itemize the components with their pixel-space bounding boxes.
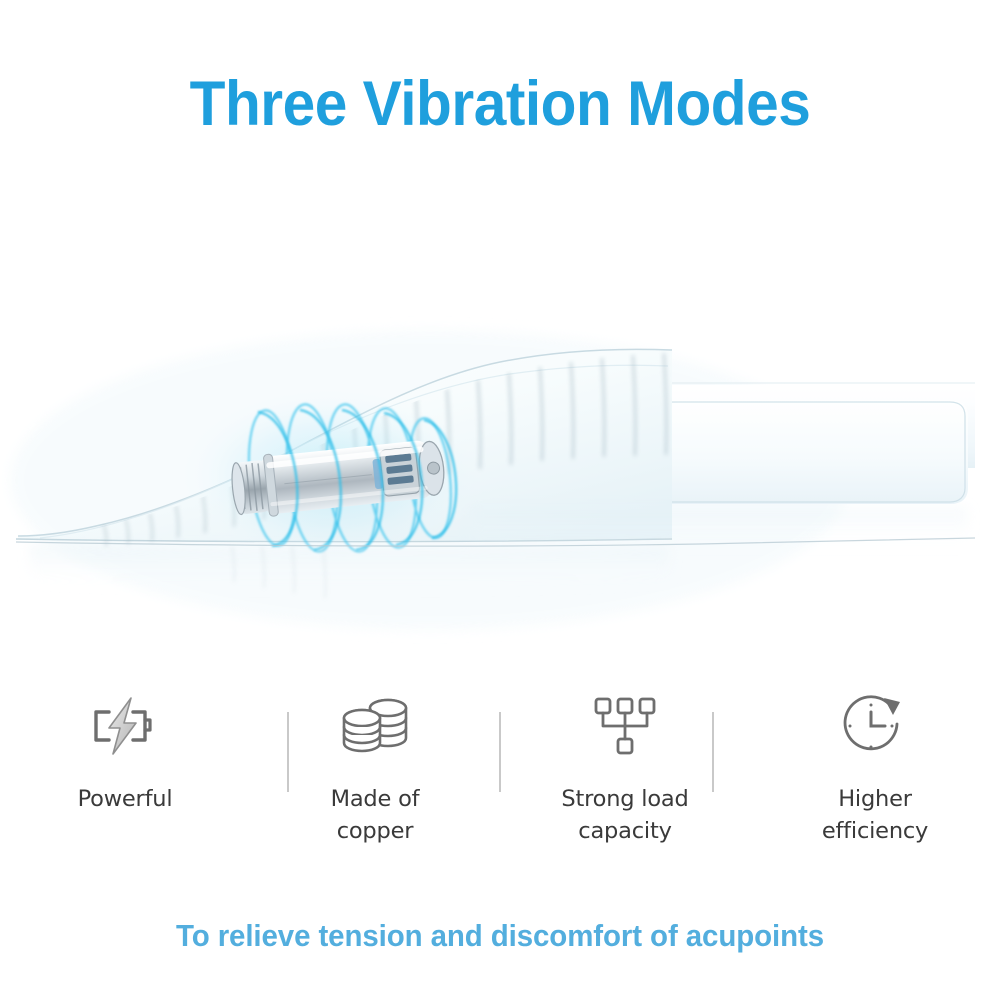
feature-item-higher-efficiency: Higherefficiency [750,690,1000,848]
coin-stack-icon [336,690,414,762]
page-title: Three Vibration Modes [35,72,965,136]
feature-list: Powerful Made ofcopper [0,690,1000,860]
feature-item-made-of-copper: Made ofcopper [250,690,500,848]
feature-label: Powerful [78,784,173,816]
feature-item-strong-load-capacity: Strong loadcapacity [500,690,750,848]
feature-label: Higherefficiency [822,784,928,848]
clock-arrow-icon [836,690,914,762]
node-tree-icon [586,690,664,762]
footer-tagline: To relieve tension and discomfort of acu… [25,918,975,954]
feature-label: Made ofcopper [331,784,420,848]
product-feature-page: Three Vibration Modes [0,0,1000,1000]
product-illustration [0,250,1000,650]
battery-bolt-icon [86,690,164,762]
feature-item-powerful: Powerful [0,690,250,816]
hero-product-image [0,250,1000,650]
feature-label: Strong loadcapacity [561,784,688,848]
